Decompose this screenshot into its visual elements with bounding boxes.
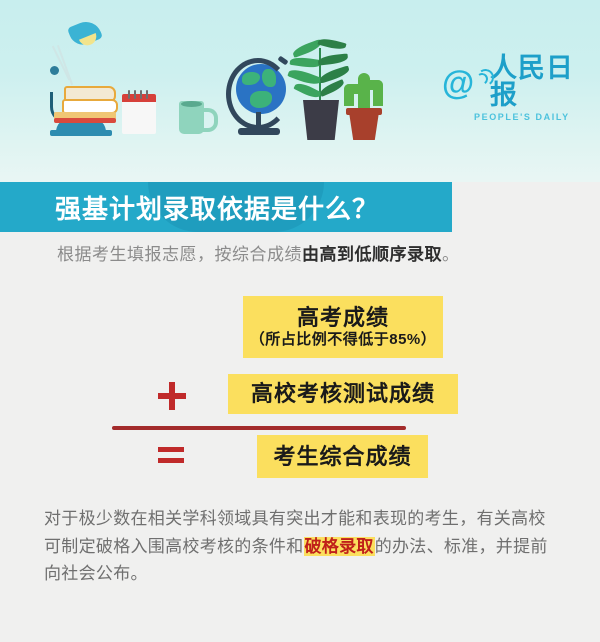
peoples-daily-logo: @ 人民日报 PEOPLE'S DAILY bbox=[442, 55, 600, 122]
formula-box-3-main: 考生综合成绩 bbox=[273, 444, 411, 469]
subtitle-text: 根据考生填报志愿，按综合成绩由高到低顺序录取。 bbox=[57, 240, 460, 265]
formula-divider-line bbox=[112, 426, 406, 430]
plus-operator-icon bbox=[158, 382, 186, 410]
bottom-paragraph: 对于极少数在相关学科领域具有突出才能和表现的考生，有关高校可制定破格入围高校考核… bbox=[44, 505, 560, 588]
section-title-bar: 强基计划录取依据是什么？ bbox=[0, 182, 452, 232]
subtitle-tail: 。 bbox=[442, 245, 460, 264]
wifi-signal-icon bbox=[476, 69, 490, 95]
equals-operator-icon bbox=[158, 447, 184, 463]
bottom-paragraph-highlight: 破格录取 bbox=[304, 537, 375, 556]
at-symbol-icon: @ bbox=[442, 66, 474, 99]
formula-box-1-main: 高考成绩 bbox=[297, 305, 389, 330]
page-title: 强基计划录取依据是什么？ bbox=[55, 182, 379, 232]
subtitle-lead: 根据考生填报志愿，按综合成绩 bbox=[57, 245, 302, 264]
formula-box-exam-score: 高考成绩 （所占比例不得低于85%） bbox=[243, 296, 443, 358]
logo-chinese-name: 人民日报 bbox=[490, 55, 600, 109]
formula-box-1-sub: （所占比例不得低于85%） bbox=[250, 331, 437, 349]
formula-box-2-main: 高校考核测试成绩 bbox=[251, 381, 435, 406]
formula-box-comprehensive-score: 考生综合成绩 bbox=[257, 435, 428, 478]
subtitle-emphasis: 由高到低顺序录取 bbox=[302, 245, 442, 264]
formula-box-university-assessment: 高校考核测试成绩 bbox=[228, 374, 458, 414]
header-illustration-band: @ 人民日报 PEOPLE'S DAILY bbox=[0, 0, 600, 182]
infographic-page: @ 人民日报 PEOPLE'S DAILY 强基计划录取依据是什么？ 根据考生填… bbox=[0, 0, 600, 642]
logo-english-name: PEOPLE'S DAILY bbox=[474, 112, 570, 122]
